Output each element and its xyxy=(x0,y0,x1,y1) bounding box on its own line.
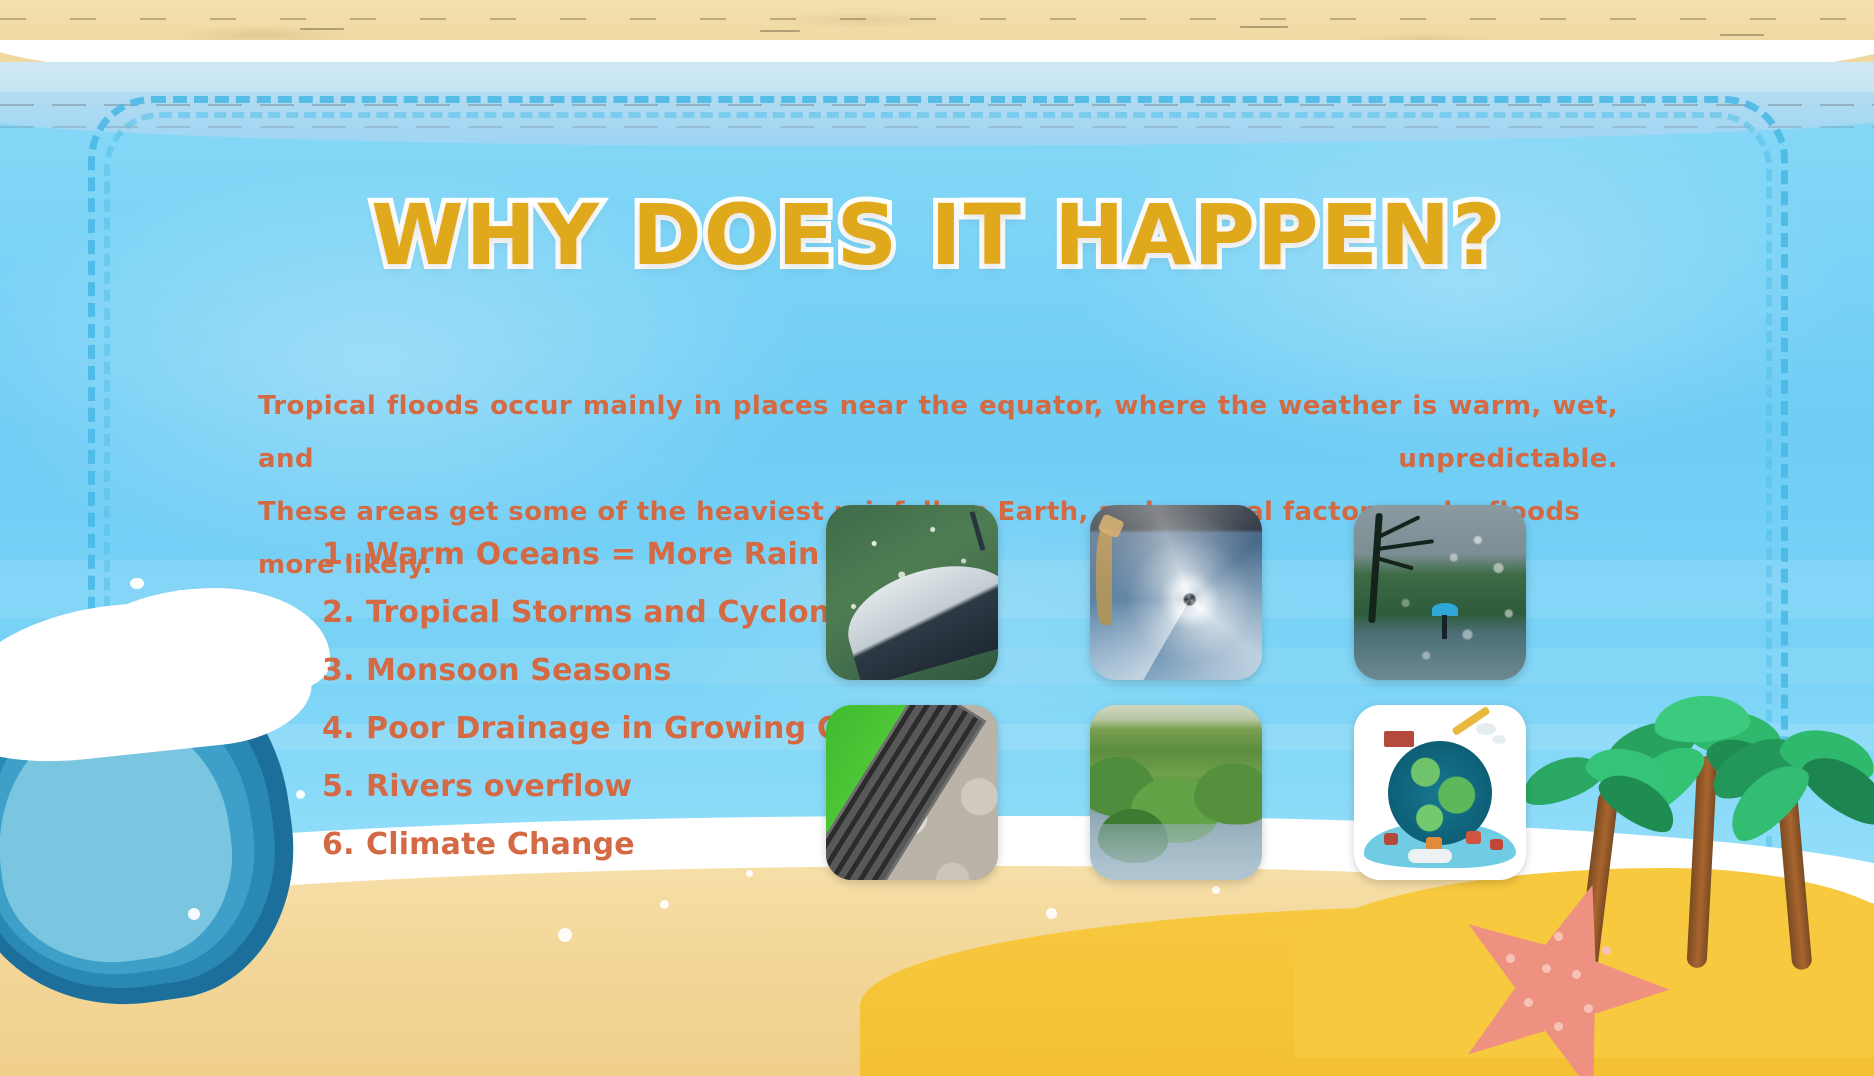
slide-content: WHY DOES IT HAPPEN? Tropical floods occu… xyxy=(0,0,1874,1076)
photo-grid xyxy=(826,505,1526,880)
page-title: WHY DOES IT HAPPEN? xyxy=(0,186,1874,284)
list-item: 3. Monsoon Seasons xyxy=(322,642,802,700)
list-item-label: Tropical Storms and Cyclones xyxy=(366,584,869,642)
reasons-list: 1. Warm Oceans = More Rain 2. Tropical S… xyxy=(322,526,802,874)
list-item: 4. Poor Drainage in Growing Cities xyxy=(322,700,802,758)
intro-line-1: Tropical floods occur mainly in places n… xyxy=(258,380,1618,486)
hurricane-photo xyxy=(1090,505,1262,680)
list-item: 2. Tropical Storms and Cyclones xyxy=(322,584,802,642)
list-item-label: Warm Oceans = More Rain xyxy=(366,526,820,584)
list-item: 5. Rivers overflow xyxy=(322,758,802,816)
list-item-number: 4. xyxy=(322,700,356,758)
monsoon-rain-photo xyxy=(1354,505,1526,680)
list-item-label: Rivers overflow xyxy=(366,758,632,816)
climate-change-photo xyxy=(1354,705,1526,880)
list-item-label: Monsoon Seasons xyxy=(366,642,672,700)
list-item-number: 5. xyxy=(322,758,356,816)
list-item: 1. Warm Oceans = More Rain xyxy=(322,526,802,584)
list-item-number: 6. xyxy=(322,816,356,874)
storm-drain-photo xyxy=(826,705,998,880)
list-item-label: Climate Change xyxy=(366,816,635,874)
slide-canvas: WHY DOES IT HAPPEN? Tropical floods occu… xyxy=(0,0,1874,1076)
rain-umbrella-photo xyxy=(826,505,998,680)
list-item-number: 3. xyxy=(322,642,356,700)
flooded-river-photo xyxy=(1090,705,1262,880)
list-item-number: 1. xyxy=(322,526,356,584)
list-item: 6. Climate Change xyxy=(322,816,802,874)
list-item-number: 2. xyxy=(322,584,356,642)
